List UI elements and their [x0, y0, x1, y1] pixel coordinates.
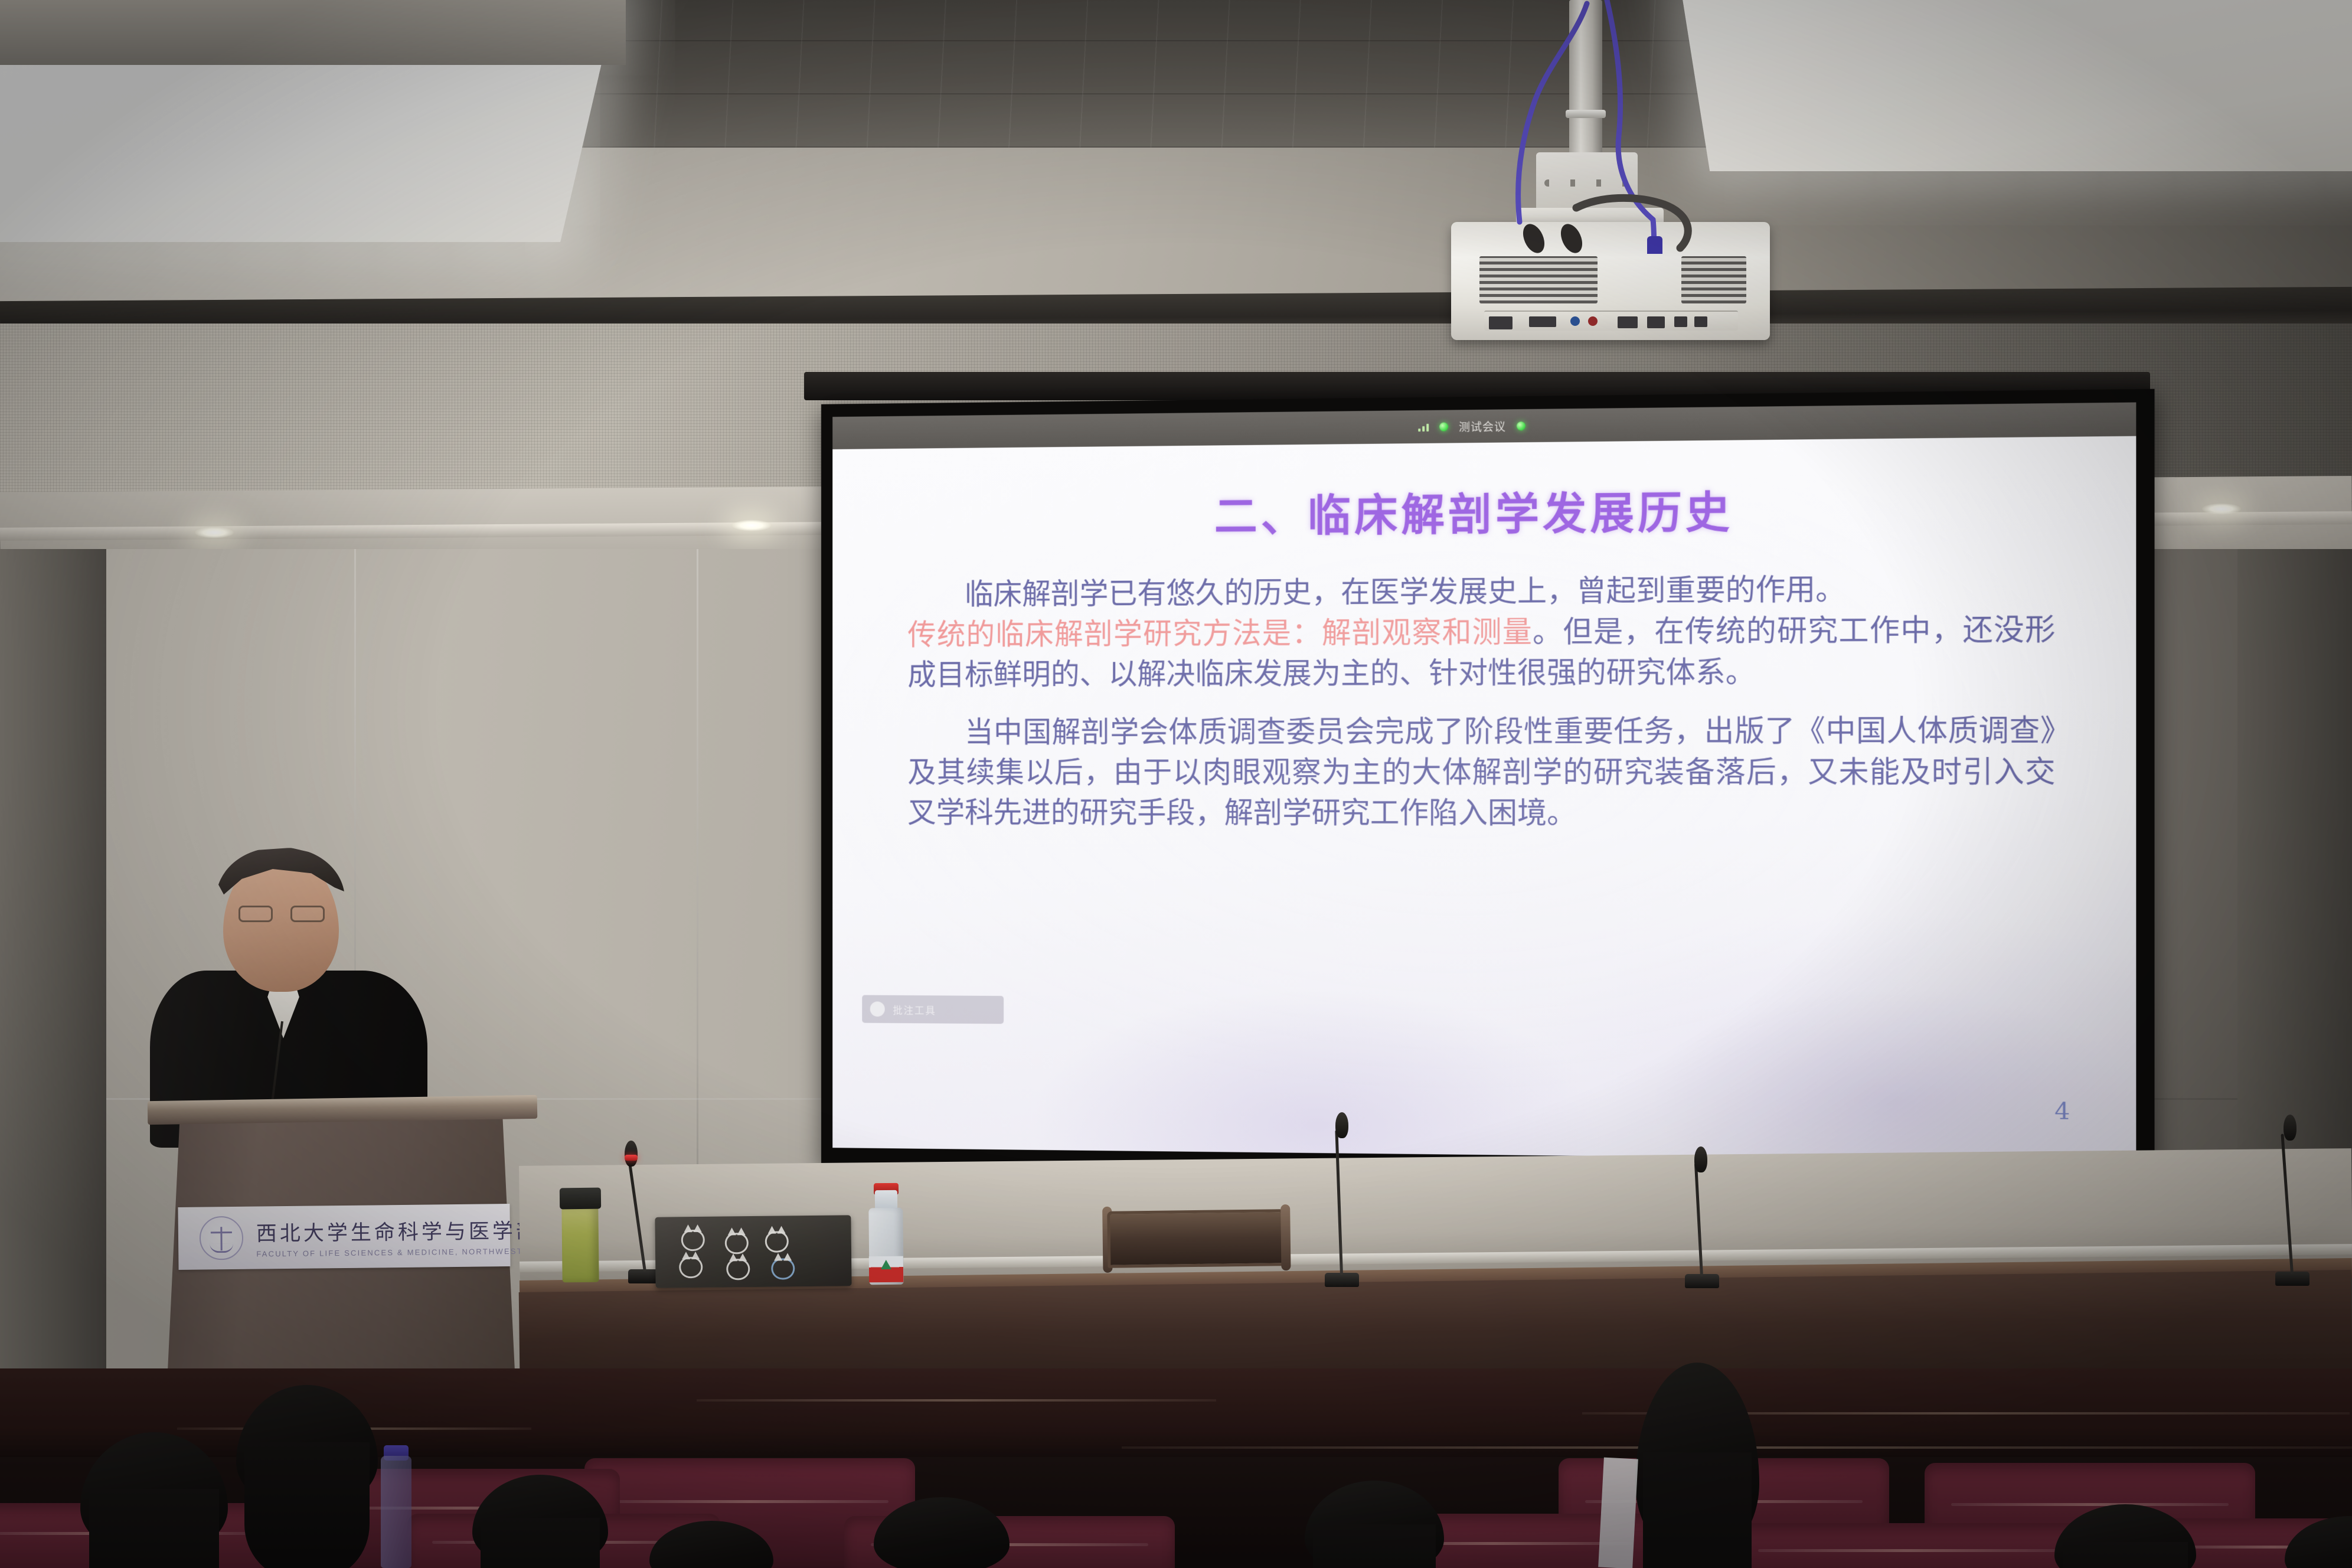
projector-port: [1489, 316, 1513, 329]
cat-face-sticker-icon: [771, 1258, 795, 1279]
seat-rail: [697, 1399, 1216, 1402]
slide-text-segment: 临床解剖学已有悠久的历史，在医学发展史上，曾起到重要的作用。: [965, 572, 1845, 611]
vga-port: [1529, 316, 1556, 327]
pen-icon[interactable]: [870, 1001, 885, 1017]
slide-paragraph-2: 当中国解剖学会体质调查委员会完成了阶段性重要任务，出版了《中国人体质调查》及其续…: [907, 710, 2055, 835]
slide-text-segment: 当中国解剖学会体质调查委员会完成了阶段性重要任务，出版了《中国人体质调查》及其续…: [907, 713, 2055, 830]
left-wall-return: [0, 549, 106, 1387]
presentation-slide: 二、临床解剖学发展历史 临床解剖学已有悠久的历史，在医学发展史上，曾起到重要的作…: [832, 436, 2136, 1162]
stage-chair: [1099, 1209, 1295, 1287]
downlight-icon: [2202, 503, 2241, 515]
audio-port: [1588, 316, 1598, 326]
tea-bottle: [561, 1207, 599, 1283]
projected-display: 测试会议 正在共享 二、临床解剖学发展历史 临床解剖学已有悠久的历史，在医学发展…: [832, 403, 2136, 1162]
chair-post: [1280, 1204, 1291, 1270]
usb-port: [1674, 316, 1687, 327]
recording-status-dot: [1439, 422, 1448, 431]
cat-face-sticker-icon: [725, 1233, 749, 1254]
network-status-dot: [1517, 422, 1525, 430]
projector-cable: [1399, 0, 1789, 254]
downlight-icon: [195, 527, 234, 538]
lecture-hall-scene: 测试会议 正在共享 二、临床解剖学发展历史 临床解剖学已有悠久的历史，在医学发展…: [0, 0, 2352, 1568]
audio-port: [1570, 316, 1580, 326]
tea-bottle-cap: [560, 1188, 601, 1210]
projection-screen: 测试会议 正在共享 二、临床解剖学发展历史 临床解剖学已有悠久的历史，在医学发展…: [821, 389, 2155, 1184]
projector-vent: [1479, 256, 1598, 303]
downlight-icon: [732, 520, 771, 531]
audience-head: [1305, 1481, 1444, 1568]
usb-port: [1694, 316, 1707, 327]
signal-bars-icon: [1418, 422, 1429, 432]
lan-port: [1647, 316, 1665, 328]
speaker-person: [123, 844, 536, 1122]
microphone-capsule: [2284, 1115, 2297, 1141]
seat[interactable]: [1730, 1523, 2084, 1568]
cat-face-sticker-icon: [726, 1259, 750, 1280]
slide-text-highlight: 传统的临床解剖学研究方法是：解剖观察和测量: [907, 615, 1533, 652]
slide-number: 4: [2054, 1097, 2070, 1125]
university-seal-icon: [200, 1216, 244, 1260]
chair-back: [1107, 1209, 1285, 1268]
cat-face-sticker-icon: [765, 1231, 789, 1252]
projector-vent: [1681, 256, 1746, 303]
microphone-capsule: [1335, 1112, 1348, 1138]
ceiling-beam: [0, 0, 626, 65]
laptop-bag: [655, 1215, 851, 1288]
podium-banner: 西北大学生命科学与医学部 FACULTY OF LIFE SCIENCES & …: [178, 1204, 510, 1270]
audience-area: [0, 1368, 2352, 1568]
cat-face-sticker-icon: [681, 1230, 705, 1251]
annotation-toolbar[interactable]: 批注工具: [862, 995, 1004, 1024]
ceiling-projector: [1399, 0, 1789, 254]
audience-water-bottle: [381, 1456, 411, 1568]
audience-paper-sheet: [1598, 1458, 1638, 1568]
meeting-title: 测试会议: [1459, 418, 1506, 435]
slide-body-text: 临床解剖学已有悠久的历史，在医学发展史上，曾起到重要的作用。传统的临床解剖学研究…: [907, 568, 2055, 852]
cat-face-sticker-icon: [679, 1257, 703, 1278]
glasses-icon: [239, 906, 325, 923]
slide-paragraph-1: 临床解剖学已有悠久的历史，在医学发展史上，曾起到重要的作用。传统的临床解剖学研究…: [907, 568, 2055, 695]
slide-title: 二、临床解剖学发展历史: [832, 473, 2136, 547]
hdmi-port: [1618, 316, 1638, 328]
annotation-toolbar-label: 批注工具: [893, 1002, 936, 1017]
water-bottle-label: [869, 1256, 903, 1283]
microphone-capsule: [625, 1141, 638, 1167]
microphone-active-ring: [625, 1155, 638, 1161]
microphone-capsule: [1694, 1146, 1707, 1172]
projector-port-panel: [1484, 311, 1738, 331]
